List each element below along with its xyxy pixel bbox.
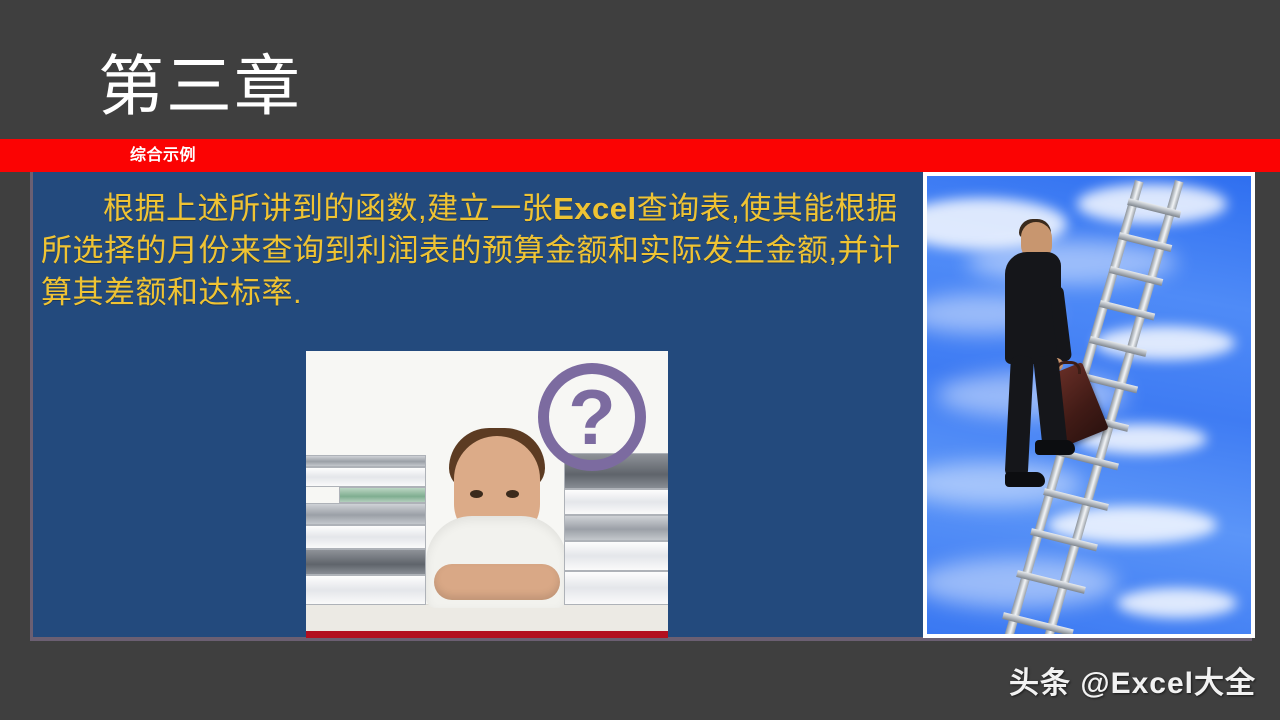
cloud <box>1117 588 1237 618</box>
binder <box>564 515 668 541</box>
businessman-shoe-front <box>1035 440 1075 455</box>
person-arms <box>434 564 560 600</box>
content-panel: 根据上述所讲到的函数,建立一张Excel查询表,使其能根据所选择的月份来查询到利… <box>30 172 1252 641</box>
person-eye-left <box>470 490 483 498</box>
section-banner-label: 综合示例 <box>130 146 196 166</box>
person-eye-right <box>506 490 519 498</box>
slide-canvas: 第三章 综合示例 根据上述所讲到的函数,建立一张Excel查询表,使其能根据所选… <box>0 0 1280 720</box>
photo-underline <box>306 631 668 638</box>
section-banner: 综合示例 <box>0 139 1280 172</box>
binder <box>306 549 426 575</box>
binder-stack-right <box>564 453 668 605</box>
desk-surface <box>306 604 668 631</box>
watermark: 头条 @Excel大全 <box>1009 666 1256 702</box>
binder-stack-left <box>306 455 426 605</box>
businessman-leg-back <box>1005 355 1034 478</box>
binder <box>306 575 426 605</box>
body-paragraph-keyword: Excel <box>553 191 637 226</box>
binder <box>564 489 668 515</box>
binder <box>306 467 426 487</box>
binder <box>306 503 426 525</box>
binder <box>564 541 668 571</box>
binder <box>564 571 668 605</box>
binder <box>339 487 426 503</box>
question-mark-icon: ? <box>538 363 646 471</box>
body-paragraph: 根据上述所讲到的函数,建立一张Excel查询表,使其能根据所选择的月份来查询到利… <box>41 188 916 314</box>
page-title: 第三章 <box>98 48 302 124</box>
body-paragraph-prefix: 根据上述所讲到的函数,建立一张 <box>103 191 553 226</box>
businessman-shoe-back <box>1005 472 1045 487</box>
binder <box>306 525 426 549</box>
binder <box>306 455 426 467</box>
ladder-photo <box>923 172 1255 638</box>
desk-photo: ? <box>306 351 668 638</box>
businessman-figure <box>1005 252 1125 572</box>
